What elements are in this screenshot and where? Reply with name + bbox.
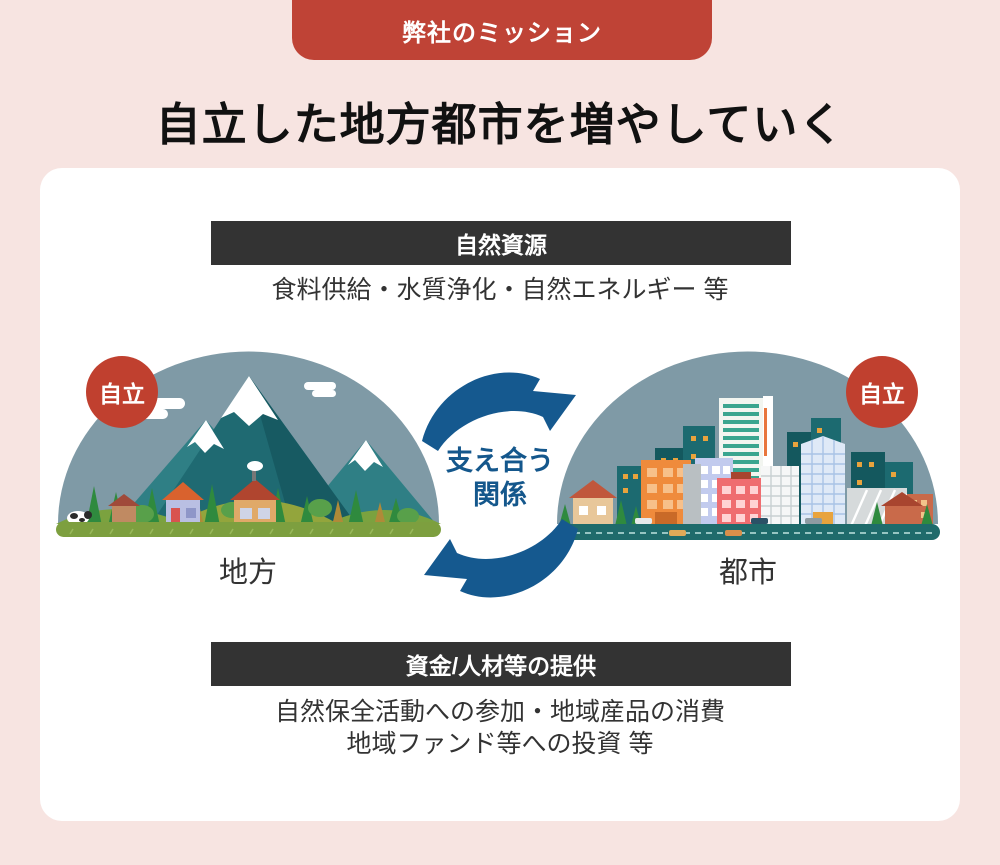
road-bar bbox=[555, 524, 940, 540]
rural-caption: 地方 bbox=[148, 549, 348, 591]
funding-description-line2: 地域ファンド等への投資 等 bbox=[60, 728, 940, 760]
arrow-top-right bbox=[422, 373, 576, 451]
cycle-label-line2: 関係 bbox=[400, 479, 600, 513]
ground-bar bbox=[56, 522, 441, 537]
funding-label: 資金/人材等の提供 bbox=[406, 647, 596, 681]
mission-ribbon-badge: 弊社のミッション bbox=[292, 0, 712, 60]
city-caption: 都市 bbox=[648, 549, 848, 591]
cycle-label: 支え合う 関係 bbox=[400, 445, 600, 513]
natural-resources-bar: 自然資源 bbox=[211, 221, 791, 265]
natural-resources-description: 食料供給・水質浄化・自然エネルギー 等 bbox=[60, 274, 940, 306]
funding-description: 自然保全活動への参加・地域産品の消費 地域ファンド等への投資 等 bbox=[60, 696, 940, 760]
diagram-card: 自然資源 食料供給・水質浄化・自然エネルギー 等 bbox=[40, 168, 960, 821]
page-title: 自立した地方都市を増やしていく bbox=[0, 88, 1000, 153]
natural-resources-label: 自然資源 bbox=[455, 226, 547, 260]
funding-description-line1: 自然保全活動への参加・地域産品の消費 bbox=[60, 696, 940, 728]
independence-badge-city: 自立 bbox=[846, 356, 918, 428]
independence-badge-city-label: 自立 bbox=[859, 375, 905, 409]
arrow-bottom-left bbox=[424, 519, 578, 597]
independence-badge-rural: 自立 bbox=[86, 356, 158, 428]
independence-badge-rural-label: 自立 bbox=[99, 375, 145, 409]
cycle-label-line1: 支え合う bbox=[400, 445, 600, 479]
funding-bar: 資金/人材等の提供 bbox=[211, 642, 791, 686]
mission-ribbon-label: 弊社のミッション bbox=[402, 13, 602, 48]
